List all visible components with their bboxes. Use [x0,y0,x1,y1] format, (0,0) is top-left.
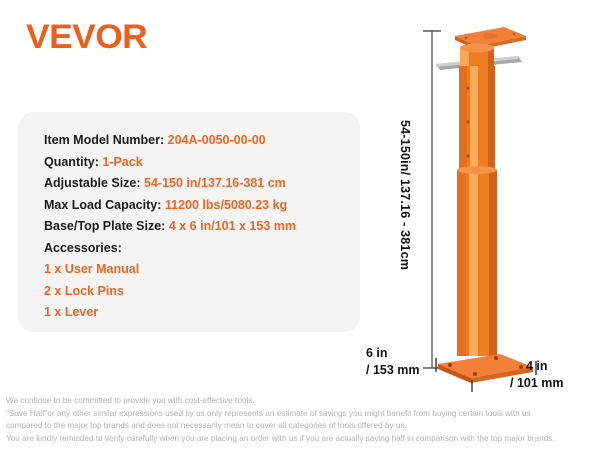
lower-tube [457,166,497,356]
spec-value: 1-Pack [102,155,142,169]
spec-row-max-load: Max Load Capacity: 11200 lbs/5080.23 kg [44,195,350,217]
base-width-line2: / 101 mm [510,375,564,392]
spec-label: Max Load Capacity: [44,198,161,212]
spec-row-model: Item Model Number: 204A-0050-00-00 [44,130,350,152]
spec-label: Item Model Number: [44,133,164,147]
spec-card: Item Model Number: 204A-0050-00-00 Quant… [18,112,360,332]
spec-value: 204A-0050-00-00 [168,133,266,147]
height-dimension-line [423,31,441,368]
disclaimer-line: We continue to be committed to provide y… [6,395,596,408]
base-width-line1: 4 in [510,358,564,375]
accessory-item: 1 x Lever [44,302,350,324]
base-width-label: 4 in / 101 mm [510,358,564,392]
spec-label: Quantity: [44,155,99,169]
disclaimer-line: compared to the major top brands and doe… [6,420,596,433]
accessory-item: 1 x User Manual [44,259,350,281]
spec-value: 11200 lbs/5080.23 kg [165,198,287,212]
adjustable-support-pole-graphic [400,0,600,400]
brand-logo: VEVOR [26,20,147,54]
disclaimer-line: You are kindly reminded to verify carefu… [6,433,596,446]
spec-row-quantity: Quantity: 1-Pack [44,152,350,174]
base-length-line2: / 153 mm [366,363,420,377]
base-length-line1: 6 in [366,346,388,360]
height-dimension-label: 54-150in/ 137.16 - 381cm [398,120,412,270]
spec-row-plate-size: Base/Top Plate Size: 4 x 6 in/101 x 153 … [44,216,350,238]
accessories-heading: Accessories: [44,238,350,260]
footer-disclaimer: We continue to be committed to provide y… [6,395,596,445]
disclaimer-line: "Save Half"or any other similar expressi… [6,408,596,421]
spec-label: Base/Top Plate Size: [44,219,165,233]
base-length-label: 6 in / 153 mm [366,345,420,379]
spec-label: Adjustable Size: [44,176,141,190]
product-illustration [400,0,600,400]
spec-list: Item Model Number: 204A-0050-00-00 Quant… [44,130,350,324]
spec-row-adjustable-size: Adjustable Size: 54-150 in/137.16-381 cm [44,173,350,195]
spec-value: 54-150 in/137.16-381 cm [144,176,286,190]
upper-tube [459,66,495,172]
spec-value: 4 x 6 in/101 x 153 mm [169,219,296,233]
accessory-item: 2 x Lock Pins [44,281,350,303]
